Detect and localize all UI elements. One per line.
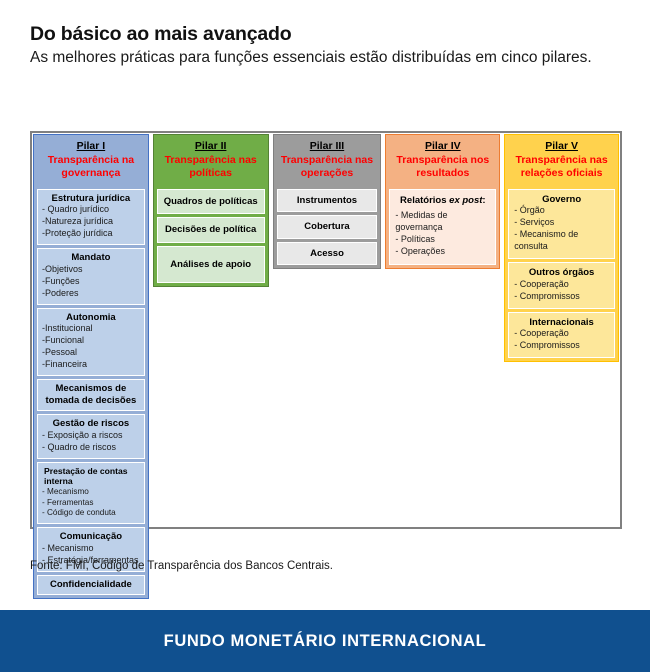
pillar-4-name: Transparência nos resultados bbox=[388, 154, 497, 180]
pillar-3-body: Instrumentos Cobertura Acesso bbox=[274, 186, 381, 269]
card-item: -Financeira bbox=[42, 359, 140, 371]
card-item: - Órgão bbox=[514, 205, 609, 217]
card-outros-orgaos: Outros órgãos - Cooperação - Compromisso… bbox=[508, 262, 615, 309]
page-title: Do básico ao mais avançado bbox=[30, 22, 622, 46]
card-item: - Mecanismo bbox=[42, 543, 140, 555]
card-item: - Operações bbox=[395, 246, 490, 258]
pillar-1-body: Estrutura jurídica - Quadro jurídico -Na… bbox=[34, 186, 148, 599]
card-title: Prestação de contas interna bbox=[42, 466, 140, 487]
card-title: Relatórios ex post: bbox=[395, 195, 490, 207]
pillar-4: Pilar IV Transparência nos resultados Re… bbox=[385, 134, 500, 269]
card-item: - Compromissos bbox=[514, 340, 609, 352]
header-block: Do básico ao mais avançado As melhores p… bbox=[0, 0, 650, 68]
card-title: Mecanismos de tomada de decisões bbox=[42, 383, 140, 406]
imf-banner-text: FUNDO MONETÁRIO INTERNACIONAL bbox=[164, 632, 487, 651]
card-title: Autonomia bbox=[42, 312, 140, 324]
card-item: -Funcional bbox=[42, 335, 140, 347]
pillar-5: Pilar V Transparência nas relações ofici… bbox=[504, 134, 619, 362]
pillar-1-number: Pilar I bbox=[36, 140, 146, 152]
card-prestacao-contas: Prestação de contas interna - Mecanismo … bbox=[37, 462, 145, 525]
pillar-3-name: Transparência nas operações bbox=[276, 154, 379, 180]
card-title: Cobertura bbox=[282, 221, 373, 233]
card-item: - Compromissos bbox=[514, 291, 609, 303]
card-item: - Mecanismo bbox=[42, 487, 140, 498]
card-item: - Exposição a riscos bbox=[42, 430, 140, 442]
card-relatorios-ex-post: Relatórios ex post: - Medidas de governa… bbox=[389, 189, 496, 265]
card-mandato: Mandato -Objetivos -Funções -Poderes bbox=[37, 248, 145, 304]
pillar-1-header: Pilar I Transparência na governança bbox=[34, 135, 148, 186]
card-title: Estrutura jurídica bbox=[42, 193, 140, 205]
card-item: - Quadro jurídico bbox=[42, 204, 140, 216]
pillar-2: Pilar II Transparência nas políticas Qua… bbox=[153, 134, 269, 287]
card-gestao-riscos: Gestão de riscos - Exposição a riscos - … bbox=[37, 414, 145, 459]
card-title: Internacionais bbox=[514, 317, 609, 329]
card-title: Análises de apoio bbox=[162, 259, 260, 271]
card-internacionais: Internacionais - Cooperação - Compromiss… bbox=[508, 312, 615, 359]
card-item: - Cooperação bbox=[514, 279, 609, 291]
card-title: Acesso bbox=[282, 248, 373, 260]
card-mecanismos-decisoes: Mecanismos de tomada de decisões bbox=[37, 379, 145, 411]
source-note: Fonte: FMI, Código de Transparência dos … bbox=[30, 560, 333, 572]
pillar-2-number: Pilar II bbox=[156, 140, 266, 152]
card-analises-apoio: Análises de apoio bbox=[157, 246, 265, 284]
card-title: Quadros de políticas bbox=[162, 196, 260, 208]
pillar-2-body: Quadros de políticas Decisões de polític… bbox=[154, 186, 268, 287]
pillar-5-name: Transparência nas relações oficiais bbox=[507, 154, 616, 180]
pillar-3: Pilar III Transparência nas operações In… bbox=[273, 134, 382, 269]
card-item: -Poderes bbox=[42, 288, 140, 300]
card-title: Outros órgãos bbox=[514, 267, 609, 279]
card-item: - Cooperação bbox=[514, 328, 609, 340]
pillar-4-body: Relatórios ex post: - Medidas de governa… bbox=[386, 186, 499, 268]
card-cobertura: Cobertura bbox=[277, 215, 378, 239]
card-estrutura-juridica: Estrutura jurídica - Quadro jurídico -Na… bbox=[37, 189, 145, 245]
card-item: -Objetivos bbox=[42, 264, 140, 276]
pillar-2-name: Transparência nas políticas bbox=[156, 154, 266, 180]
card-acesso: Acesso bbox=[277, 242, 378, 266]
card-confidencialidade: Confidencialidade bbox=[37, 575, 145, 596]
card-autonomia: Autonomia -Institucional -Funcional -Pes… bbox=[37, 308, 145, 376]
card-title: Comunicação bbox=[42, 531, 140, 543]
card-title: Gestão de riscos bbox=[42, 418, 140, 430]
card-title: Mandato bbox=[42, 252, 140, 264]
pillar-4-number: Pilar IV bbox=[388, 140, 497, 152]
card-instrumentos: Instrumentos bbox=[277, 189, 378, 213]
card-item: - Código de conduta bbox=[42, 508, 140, 519]
card-item: - Medidas de governança bbox=[395, 210, 490, 234]
card-item: -Natureza jurídica bbox=[42, 216, 140, 228]
page-subtitle: As melhores práticas para funções essenc… bbox=[30, 48, 622, 68]
card-title: Decisões de política bbox=[162, 224, 260, 236]
card-title: Instrumentos bbox=[282, 195, 373, 207]
card-item: -Funções bbox=[42, 276, 140, 288]
pillar-2-header: Pilar II Transparência nas políticas bbox=[154, 135, 268, 186]
pillar-3-number: Pilar III bbox=[276, 140, 379, 152]
card-title: Governo bbox=[514, 194, 609, 206]
pillar-4-header: Pilar IV Transparência nos resultados bbox=[386, 135, 499, 186]
pillar-5-body: Governo - Órgão - Serviços - Mecanismo d… bbox=[505, 186, 618, 361]
card-item: -Proteção jurídica bbox=[42, 228, 140, 240]
card-item: - Ferramentas bbox=[42, 498, 140, 509]
card-item: - Quadro de riscos bbox=[42, 442, 140, 454]
pillar-1: Pilar I Transparência na governança Estr… bbox=[33, 134, 149, 599]
imf-banner: FUNDO MONETÁRIO INTERNACIONAL bbox=[0, 610, 650, 672]
card-item: - Mecanismo de consulta bbox=[514, 229, 609, 253]
card-decisoes-politica: Decisões de política bbox=[157, 217, 265, 243]
pillar-3-header: Pilar III Transparência nas operações bbox=[274, 135, 381, 186]
pillars-container: Pilar I Transparência na governança Estr… bbox=[30, 131, 622, 529]
card-quadros-politicas: Quadros de políticas bbox=[157, 189, 265, 215]
card-item: - Políticas bbox=[395, 234, 490, 246]
pillar-5-number: Pilar V bbox=[507, 140, 616, 152]
italic-ex-post: ex post bbox=[449, 195, 482, 206]
card-item: - Serviços bbox=[514, 217, 609, 229]
pillar-5-header: Pilar V Transparência nas relações ofici… bbox=[505, 135, 618, 186]
card-governo: Governo - Órgão - Serviços - Mecanismo d… bbox=[508, 189, 615, 259]
card-item: -Institucional bbox=[42, 323, 140, 335]
card-title: Confidencialidade bbox=[42, 579, 140, 591]
card-item: -Pessoal bbox=[42, 347, 140, 359]
pillar-1-name: Transparência na governança bbox=[36, 154, 146, 180]
